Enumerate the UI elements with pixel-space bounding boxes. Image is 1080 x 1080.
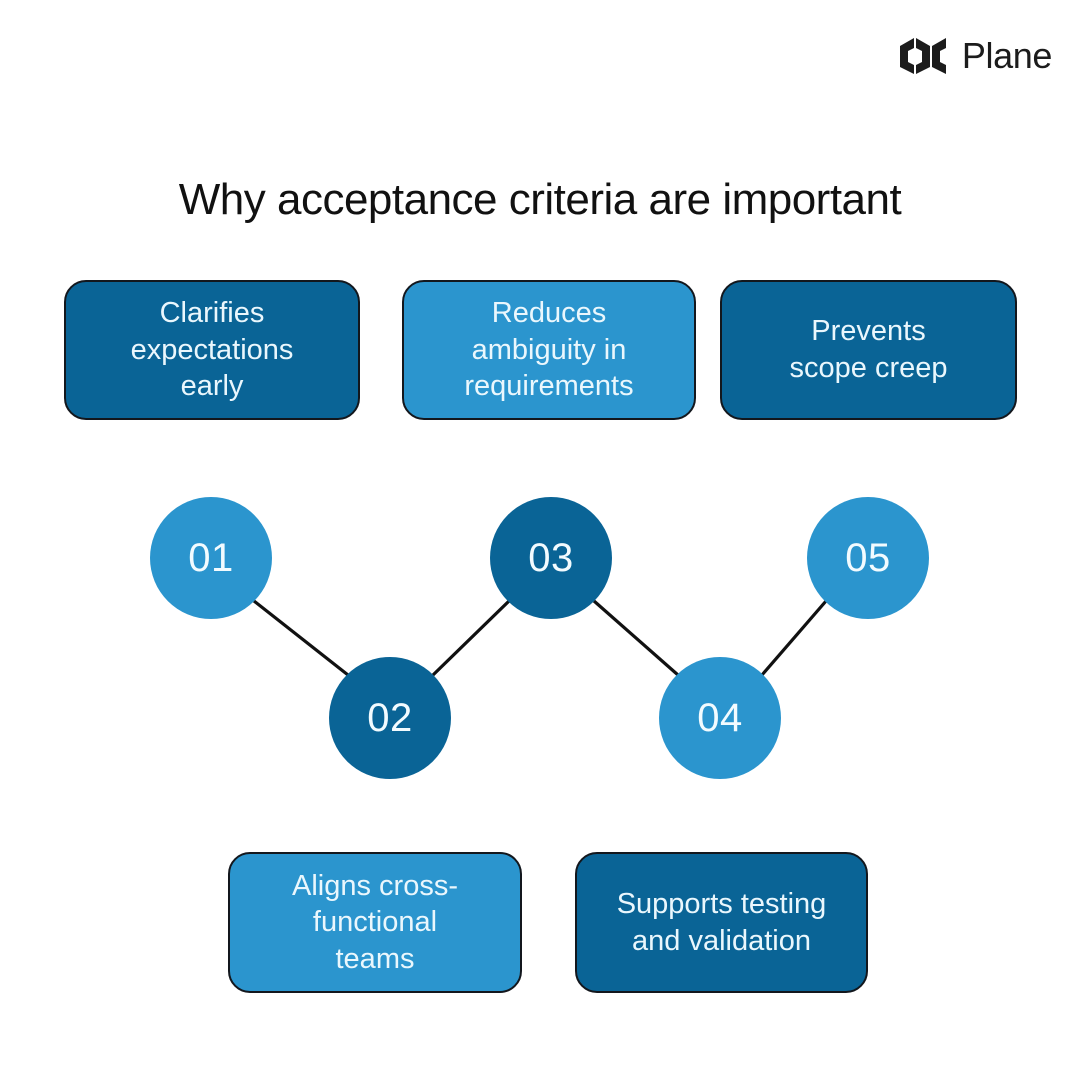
step-circle-01[interactable]: 01 bbox=[150, 497, 272, 619]
brand-logo: Plane bbox=[898, 36, 1052, 76]
connector-04-05 bbox=[762, 601, 826, 675]
page-title: Why acceptance criteria are important bbox=[0, 175, 1080, 226]
connector-03-04 bbox=[594, 601, 678, 675]
infographic-canvas: Plane Why acceptance criteria are import… bbox=[0, 0, 1080, 1080]
step-circle-04[interactable]: 04 bbox=[659, 657, 781, 779]
benefit-box-supports-testing-validation[interactable]: Supports testing and validation bbox=[575, 852, 868, 993]
step-circle-03[interactable]: 03 bbox=[490, 497, 612, 619]
step-circle-02[interactable]: 02 bbox=[329, 657, 451, 779]
step-circle-05[interactable]: 05 bbox=[807, 497, 929, 619]
brand-name: Plane bbox=[962, 38, 1052, 74]
plane-double-chevron-logo-icon bbox=[898, 36, 950, 76]
benefit-box-aligns-cross-functional-teams[interactable]: Aligns cross- functional teams bbox=[228, 852, 522, 993]
connector-02-03 bbox=[433, 601, 509, 675]
benefit-box-reduces-ambiguity[interactable]: Reduces ambiguity in requirements bbox=[402, 280, 696, 420]
connector-01-02 bbox=[254, 601, 348, 675]
benefit-box-prevents-scope-creep[interactable]: Prevents scope creep bbox=[720, 280, 1017, 420]
benefit-box-clarifies-expectations[interactable]: Clarifies expectations early bbox=[64, 280, 360, 420]
